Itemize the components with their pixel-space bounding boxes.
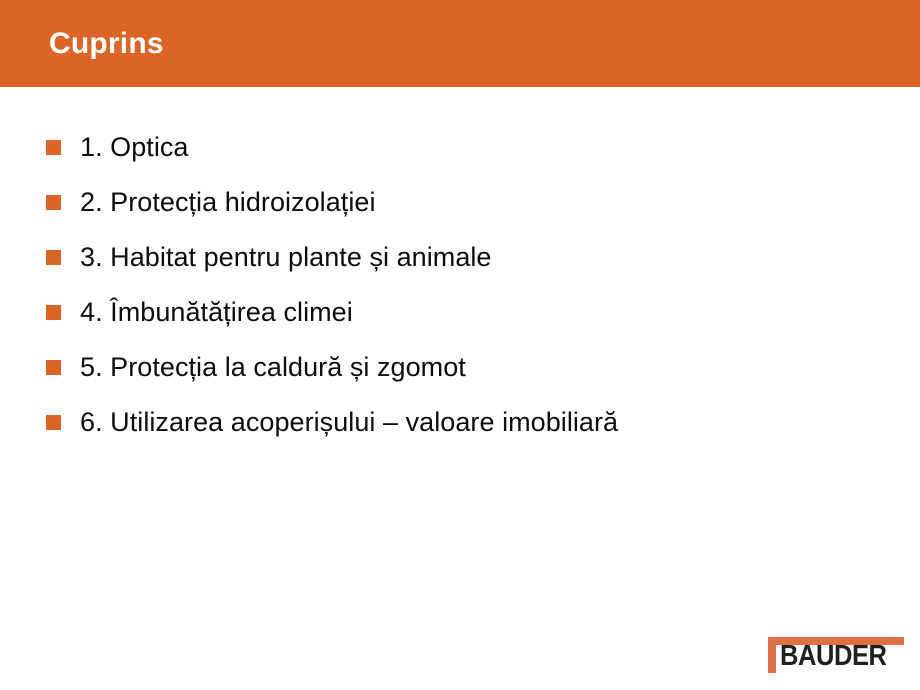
logo-bracket-left-icon <box>768 637 776 673</box>
list-item-label: 6. Utilizarea acoperișului – valoare imo… <box>80 401 886 439</box>
square-bullet-icon <box>46 250 61 265</box>
list-item-label: 4. Îmbunătățirea climei <box>80 291 886 329</box>
bauder-logo: BAUDER <box>768 637 904 673</box>
list-item[interactable]: 1. Optica <box>46 126 886 181</box>
list-item[interactable]: 4. Îmbunătățirea climei <box>46 291 886 346</box>
square-bullet-icon <box>46 140 61 155</box>
square-bullet-icon <box>46 305 61 320</box>
table-of-contents-list: 1. Optica 2. Protecția hidroizolației 3.… <box>46 126 886 456</box>
square-bullet-icon <box>46 195 61 210</box>
list-item-label: 3. Habitat pentru plante și animale <box>80 236 886 274</box>
list-item[interactable]: 6. Utilizarea acoperișului – valoare imo… <box>46 401 886 456</box>
logo-wordmark: BAUDER <box>780 642 887 671</box>
list-item-label: 2. Protecția hidroizolației <box>80 181 886 219</box>
list-item-label: 5. Protecția la caldură și zgomot <box>80 346 886 384</box>
square-bullet-icon <box>46 415 61 430</box>
slide: Cuprins 1. Optica 2. Protecția hidroizol… <box>0 0 920 690</box>
slide-header-band: Cuprins <box>0 0 920 87</box>
page-title: Cuprins <box>49 26 164 62</box>
list-item[interactable]: 5. Protecția la caldură și zgomot <box>46 346 886 401</box>
square-bullet-icon <box>46 360 61 375</box>
list-item-label: 1. Optica <box>80 126 886 164</box>
list-item[interactable]: 2. Protecția hidroizolației <box>46 181 886 236</box>
list-item[interactable]: 3. Habitat pentru plante și animale <box>46 236 886 291</box>
